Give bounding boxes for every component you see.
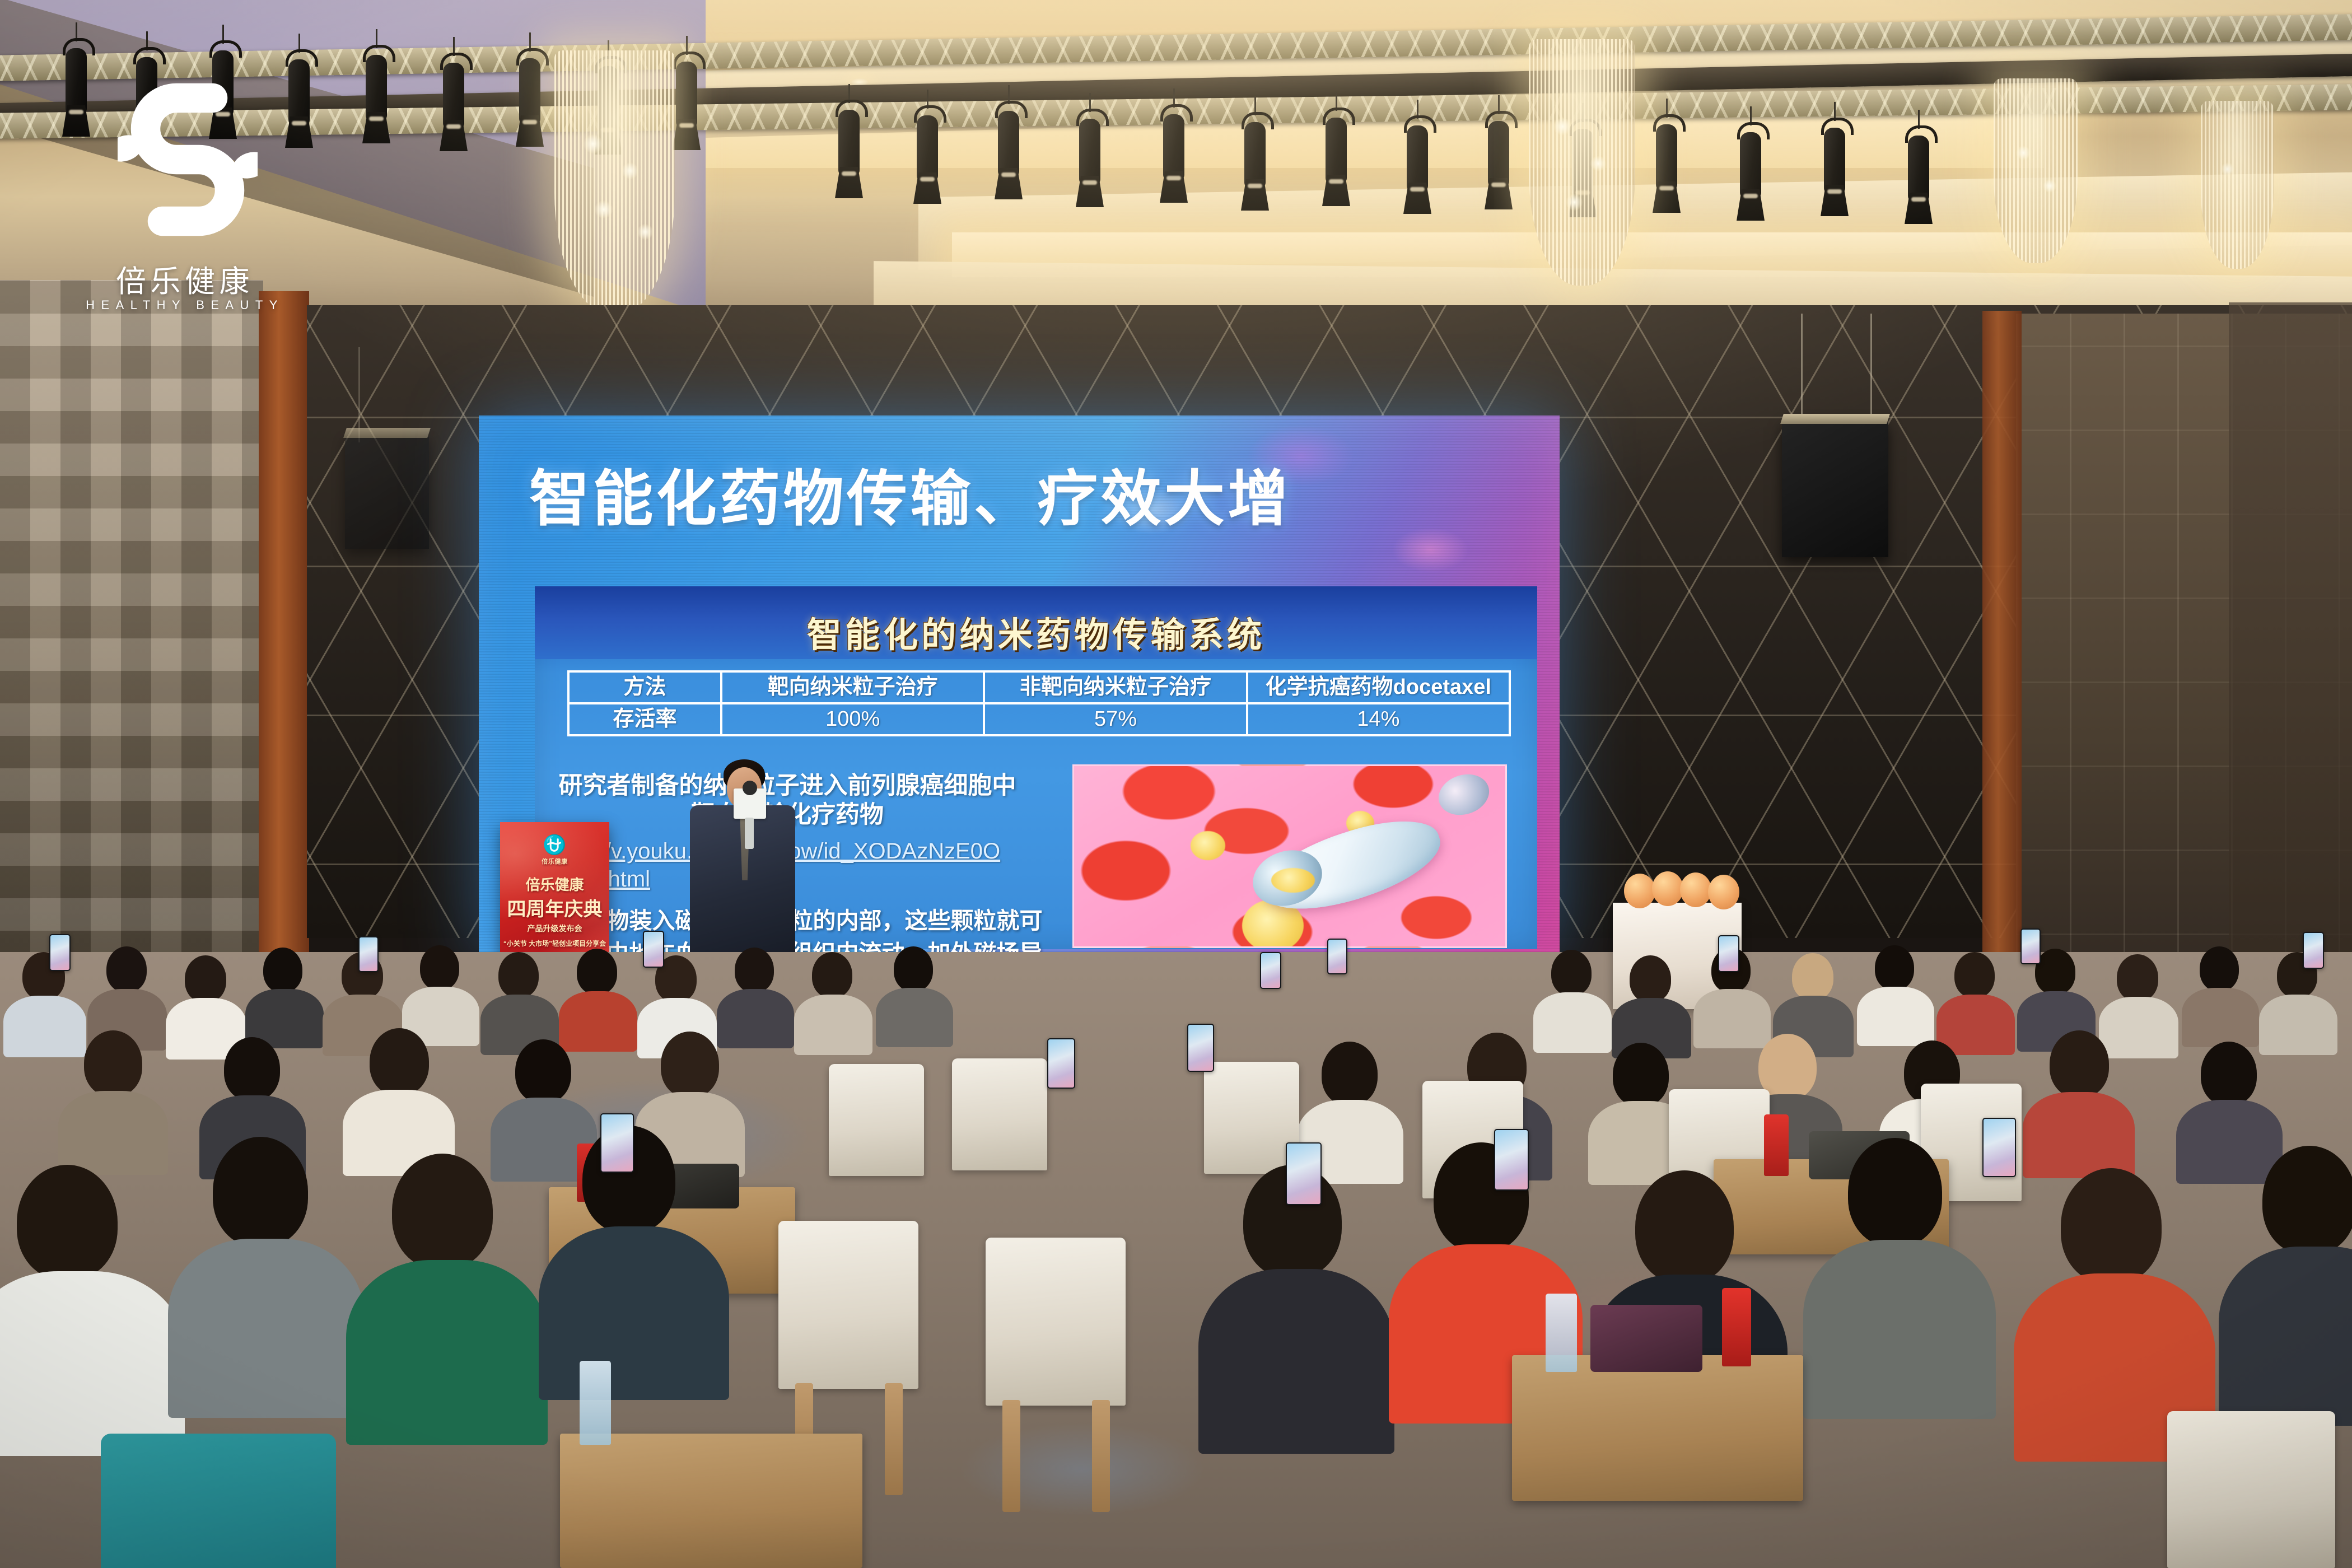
table-value-targeted: 100% [721,703,984,735]
survival-rate-table: 方法 靶向纳米粒子治疗 非靶向纳米粒子治疗 化学抗癌药物docetaxel 存活… [567,670,1511,736]
table-header-targeted: 靶向纳米粒子治疗 [721,671,984,703]
wood-column [259,291,309,963]
attendee-phone[interactable] [1187,1024,1214,1072]
banquet-chair[interactable] [2167,1411,2335,1568]
orange-sphere-prop [1680,872,1711,907]
table-row-header: 方法 靶向纳米粒子治疗 非靶向纳米粒子治疗 化学抗癌药物docetaxel [568,671,1510,703]
attendee-phone[interactable] [2303,932,2324,969]
table-header-nontargeted: 非靶向纳米粒子治疗 [984,671,1247,703]
table-label-survival: 存活率 [568,703,721,735]
table-value-nontargeted: 57% [984,703,1247,735]
crystal-chandelier [2201,101,2274,269]
presenter [675,759,810,967]
banner-logo-mark: ⛎ [500,836,609,855]
table-value-chemo: 14% [1247,703,1510,735]
nanoparticle-illustration [1072,764,1507,948]
banquet-chair[interactable] [986,1238,1126,1406]
watermark-brand-en: HEALTHY BEAUTY [84,298,286,312]
attendee-phone[interactable] [49,934,71,971]
thermos-bottle [1722,1288,1751,1366]
banner-line-2: 四周年庆典 [500,894,609,921]
orange-sphere-prop [1708,875,1739,909]
watermark-logo: 倍乐健康 HEALTHY BEAUTY [84,78,286,336]
attendee-phone[interactable] [1982,1118,2016,1177]
banquet-table [1512,1355,1803,1501]
banquet-chair[interactable] [952,1058,1047,1170]
table-header-chemo: 化学抗癌药物docetaxel [1247,671,1510,703]
banquet-chair[interactable] [829,1064,924,1176]
chair-leg [1002,1400,1020,1512]
water-bottle [580,1361,611,1445]
attendee-phone[interactable] [358,936,379,972]
attendee-phone[interactable] [1260,952,1281,989]
banner-line-1: 倍乐健康 [500,874,609,894]
s-monogram-logo-icon [118,78,258,241]
banquet-table [560,1434,862,1568]
banner-line-3: 产品升级发布会 [500,923,609,934]
attendee-phone[interactable] [2020,928,2041,964]
attendee-phone[interactable] [1327,939,1347,974]
orange-sphere-prop [1652,871,1683,906]
event-banner: ⛎ 倍乐健康 倍乐健康 四周年庆典 产品升级发布会 “小关节 大市场”轻创业项目… [500,822,609,968]
banner-line-4: “小关节 大市场”轻创业项目分享会 [500,939,609,948]
slide-title: 智能化的纳米药物传输系统 [535,606,1537,657]
crystal-chandelier [554,50,675,314]
speaker-hanging-wire [1801,314,1803,426]
crystal-chandelier [1994,78,2078,263]
banquet-chair[interactable] [778,1221,918,1389]
attendee-phone[interactable] [1494,1129,1529,1191]
water-bottle [1546,1294,1577,1372]
watermark-brand-cn: 倍乐健康 [84,256,286,301]
led-presentation-screen: 智能化药物传输、疗效大增 智能化的纳米药物传输系统 方法 靶向纳米粒子治疗 非靶… [479,416,1560,958]
coat-on-chair [101,1434,336,1568]
attendee-phone[interactable] [600,1113,634,1173]
wood-column-right [1982,311,2022,1033]
left-wall-fabric-panel [0,280,263,963]
attendee-phone[interactable] [1047,1038,1075,1089]
table-header-method: 方法 [568,671,721,703]
chair-leg [1092,1400,1110,1512]
attendee-phone[interactable] [643,931,664,968]
line-array-speaker [345,437,429,549]
screen-headline: 智能化药物传输、疗效大增 [529,450,1291,538]
crystal-chandelier [1529,39,1635,286]
banquet-chair[interactable] [1204,1062,1299,1174]
table-row-values: 存活率 100% 57% 14% [568,703,1510,735]
right-wall-dark-panel [2229,302,2352,1030]
line-array-speaker [1782,423,1888,557]
orange-sphere-prop [1624,874,1655,908]
handbag [1590,1305,1702,1372]
banner-logo-text: 倍乐健康 [500,857,609,866]
attendee-phone[interactable] [1718,935,1739,972]
conference-photograph: 智能化药物传输、疗效大增 智能化的纳米药物传输系统 方法 靶向纳米粒子治疗 非靶… [0,0,2352,1568]
chair-leg [885,1383,903,1495]
attendee-phone[interactable] [1286,1142,1322,1205]
thermos-bottle [1764,1114,1789,1176]
